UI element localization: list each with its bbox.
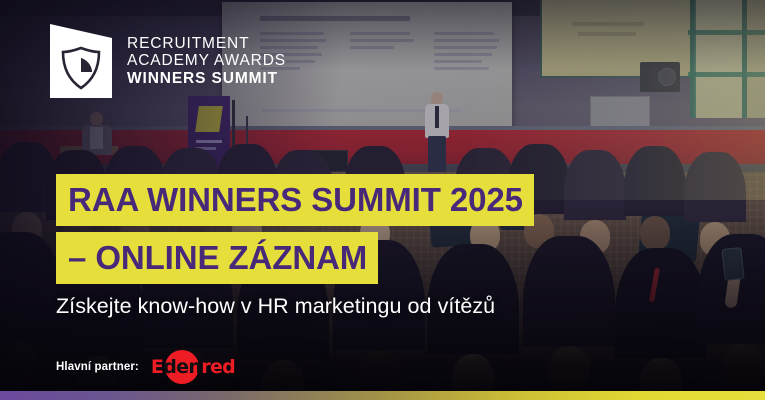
logo-line-1: RECRUITMENT [127,35,286,53]
event-promo-banner: RECRUITMENT ACADEMY AWARDS WINNERS SUMMI… [0,0,765,400]
event-logo: RECRUITMENT ACADEMY AWARDS WINNERS SUMMI… [48,22,286,100]
headline-line-2: – ONLINE ZÁZNAM [56,232,378,284]
main-partner-block: Hlavní partner: Edenred [56,352,243,382]
logo-line-2: ACADEMY AWARDS [127,52,286,70]
edenred-wordmark: Edenred [151,356,235,378]
bottom-gradient-bar [0,391,765,400]
subtitle: Získejte know-how v HR marketingu od vít… [56,294,495,319]
headline: RAA WINNERS SUMMIT 2025 – ONLINE ZÁZNAM [56,174,534,284]
logo-line-3: WINNERS SUMMIT [127,70,286,88]
edenred-logo[interactable]: Edenred [151,352,243,382]
headline-line-1: RAA WINNERS SUMMIT 2025 [56,174,534,226]
shield-in-quadrilateral-icon [48,22,114,100]
main-partner-label: Hlavní partner: [56,361,139,373]
edenred-word-part-1: E [151,356,163,378]
edenred-word-part-2: den [163,356,201,378]
edenred-word-part-3: red [201,356,235,378]
logo-wordmark: RECRUITMENT ACADEMY AWARDS WINNERS SUMMI… [127,35,286,88]
